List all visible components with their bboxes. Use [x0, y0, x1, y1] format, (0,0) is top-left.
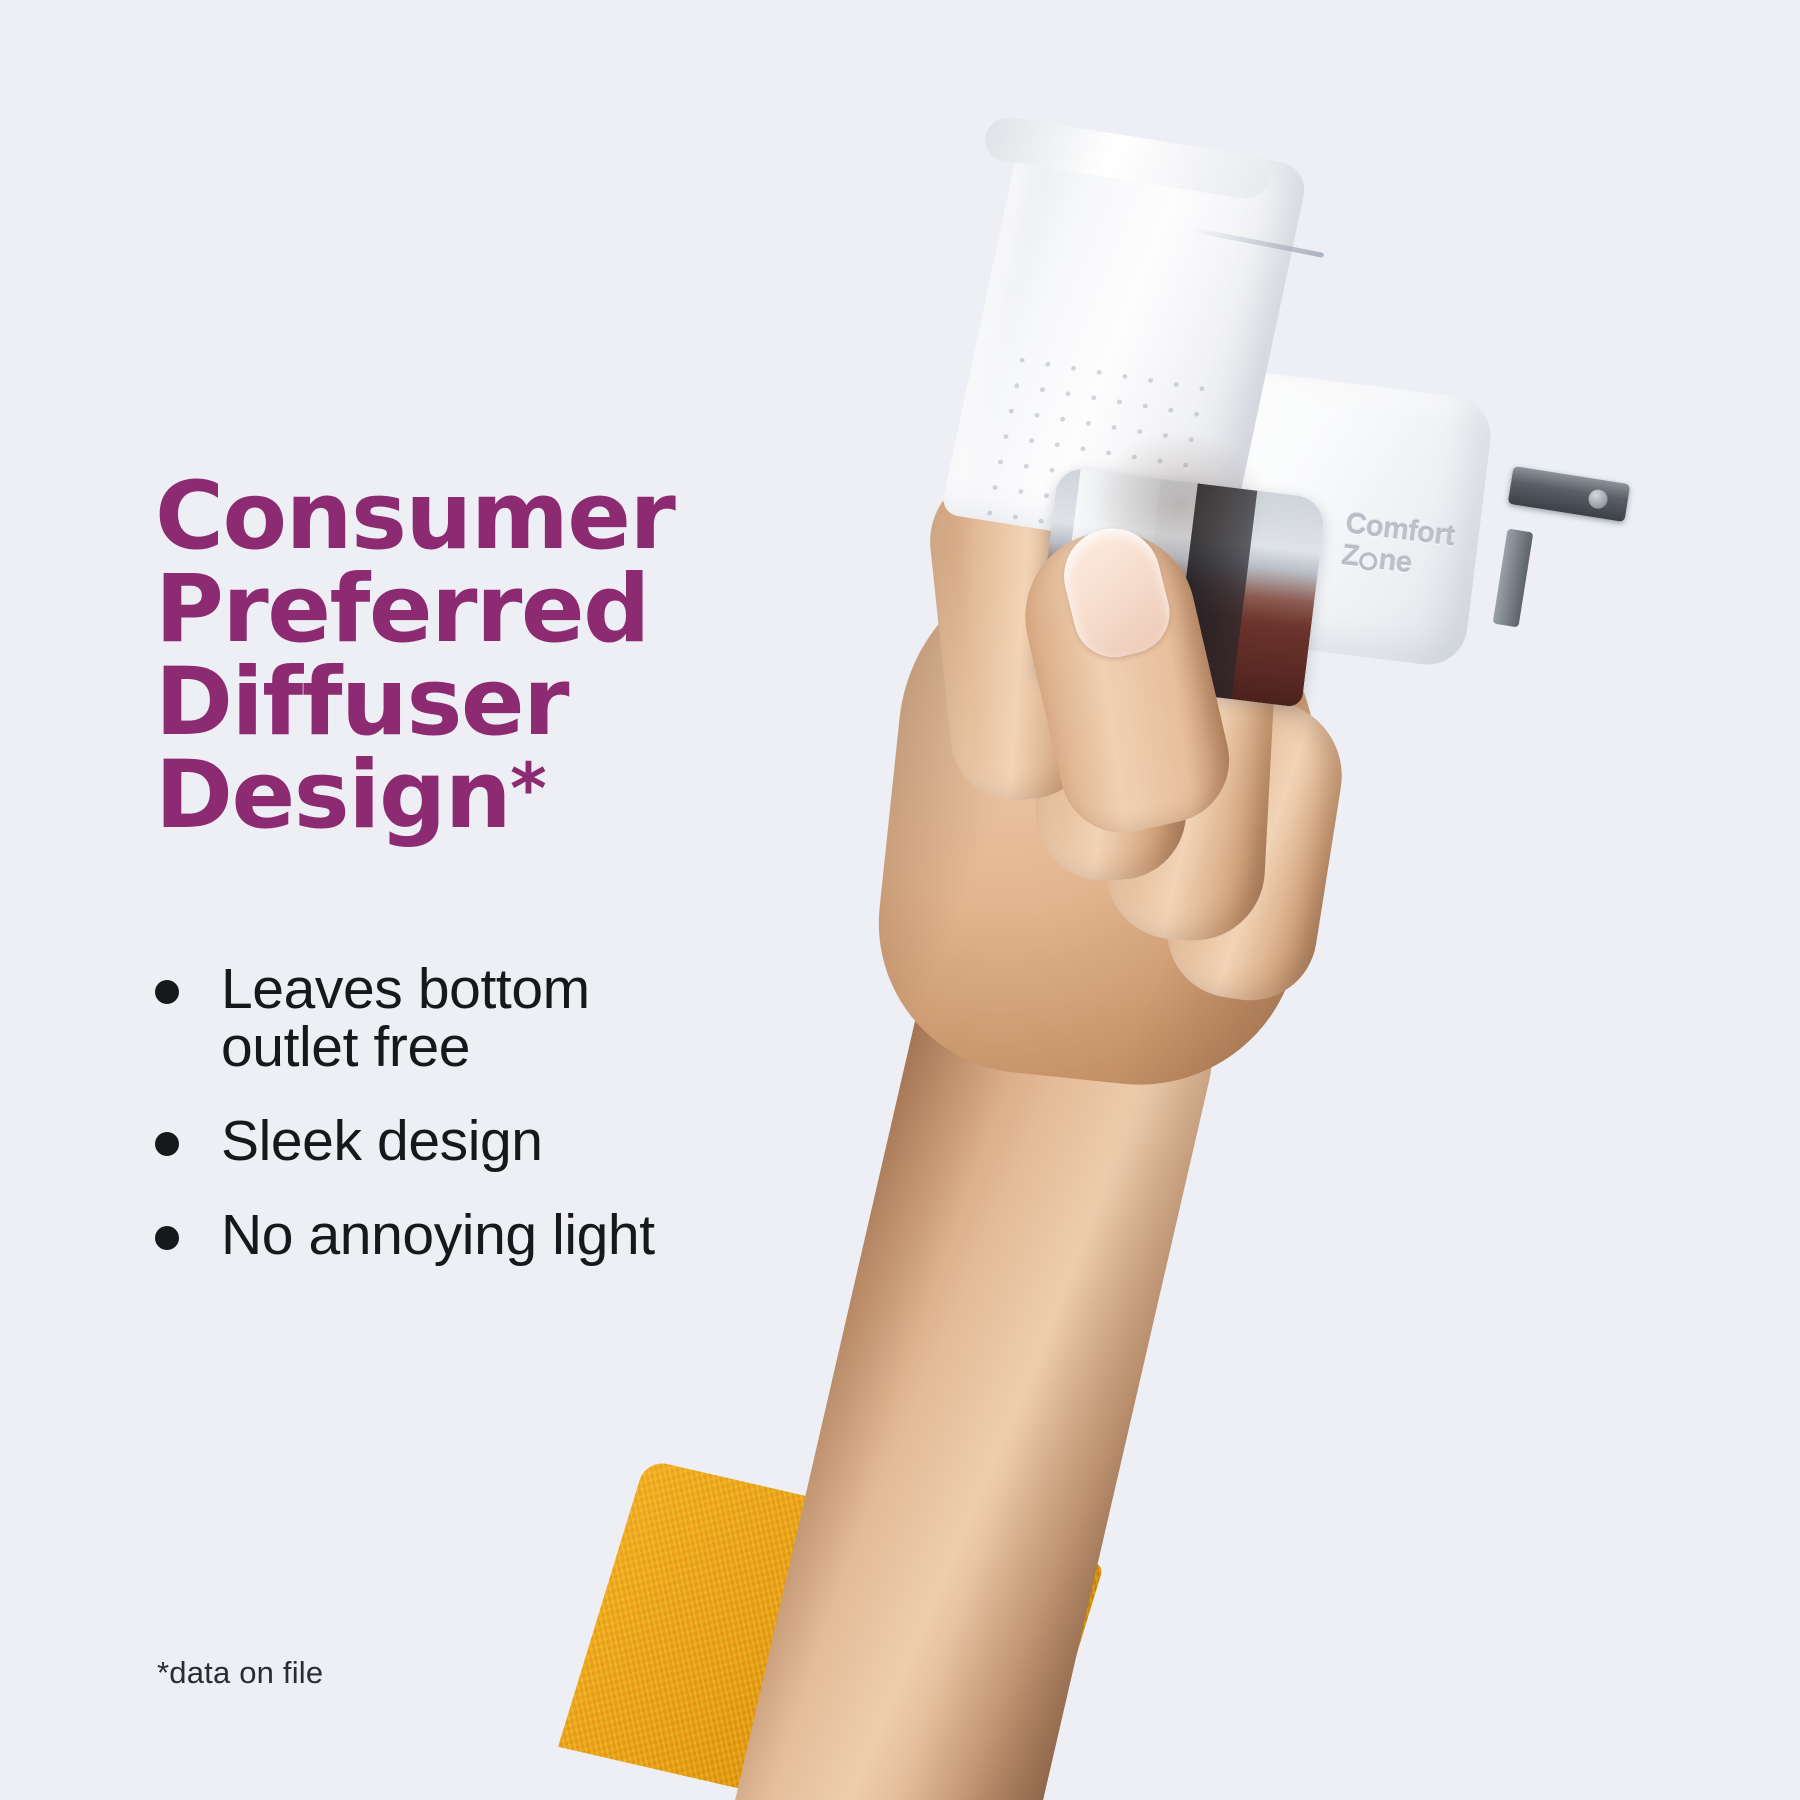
page-title: Consumer Preferred Diffuser Design* [155, 470, 915, 842]
feature-list: Leaves bottom outlet free Sleek design N… [155, 960, 915, 1265]
prong-hole [1587, 488, 1609, 510]
footnote: *data on file [157, 1655, 323, 1691]
product-photo: Diffuser Refill Comfort Zne [640, 0, 1800, 1800]
plug-prong [1508, 466, 1630, 522]
list-item-label: Sleek design [221, 1112, 543, 1170]
headline-block: Consumer Preferred Diffuser Design* [155, 470, 915, 842]
list-item-label: Leaves bottom outlet free [221, 960, 590, 1076]
comfort-zone-logo: Comfort Zne [1334, 509, 1526, 640]
bullet-dot-icon [155, 1226, 179, 1250]
marketing-image-canvas: Diffuser Refill Comfort Zne Consumer Pre… [0, 0, 1800, 1800]
list-item: No annoying light [155, 1206, 915, 1264]
list-item: Leaves bottom outlet free [155, 960, 915, 1076]
bullet-dot-icon [155, 980, 179, 1004]
headline-text: Consumer Preferred Diffuser Design [155, 462, 674, 850]
bullet-dot-icon [155, 1132, 179, 1156]
headline-asterisk: * [510, 748, 547, 830]
paw-icon [1358, 551, 1378, 571]
list-item-label: No annoying light [221, 1206, 655, 1264]
list-item: Sleek design [155, 1112, 915, 1170]
